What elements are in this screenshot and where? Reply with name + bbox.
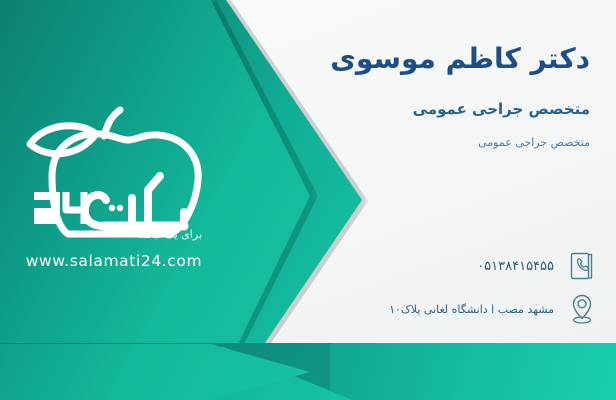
specialty-primary: متخصص جراحی عمومی	[413, 100, 590, 118]
phone-number: ۰۵۱۳۸۴۱۵۴۵۵	[477, 259, 554, 274]
logo: برای یک لبخند www.salamati24.com	[8, 104, 220, 284]
contact-row-phone[interactable]: ۰۵۱۳۸۴۱۵۴۵۵	[477, 248, 598, 284]
logo-badge-24	[34, 192, 84, 224]
contact-row-address[interactable]: مشهد مصب ا دانشگاه لغانی پلاک۱۰	[389, 291, 598, 327]
logo-url[interactable]: www.salamati24.com	[8, 252, 220, 270]
address-text: مشهد مصب ا دانشگاه لغانی پلاک۱۰	[389, 303, 554, 316]
map-pin-icon	[566, 291, 598, 327]
business-card: برای یک لبخند www.salamati24.com دکتر کا…	[0, 0, 616, 400]
specialty-secondary: متخصص جراحی عمومی	[478, 136, 590, 149]
phone-book-icon	[566, 248, 598, 284]
logo-tagline: برای یک لبخند	[138, 228, 202, 241]
page-title: دکتر کاظم موسوی	[330, 42, 590, 75]
